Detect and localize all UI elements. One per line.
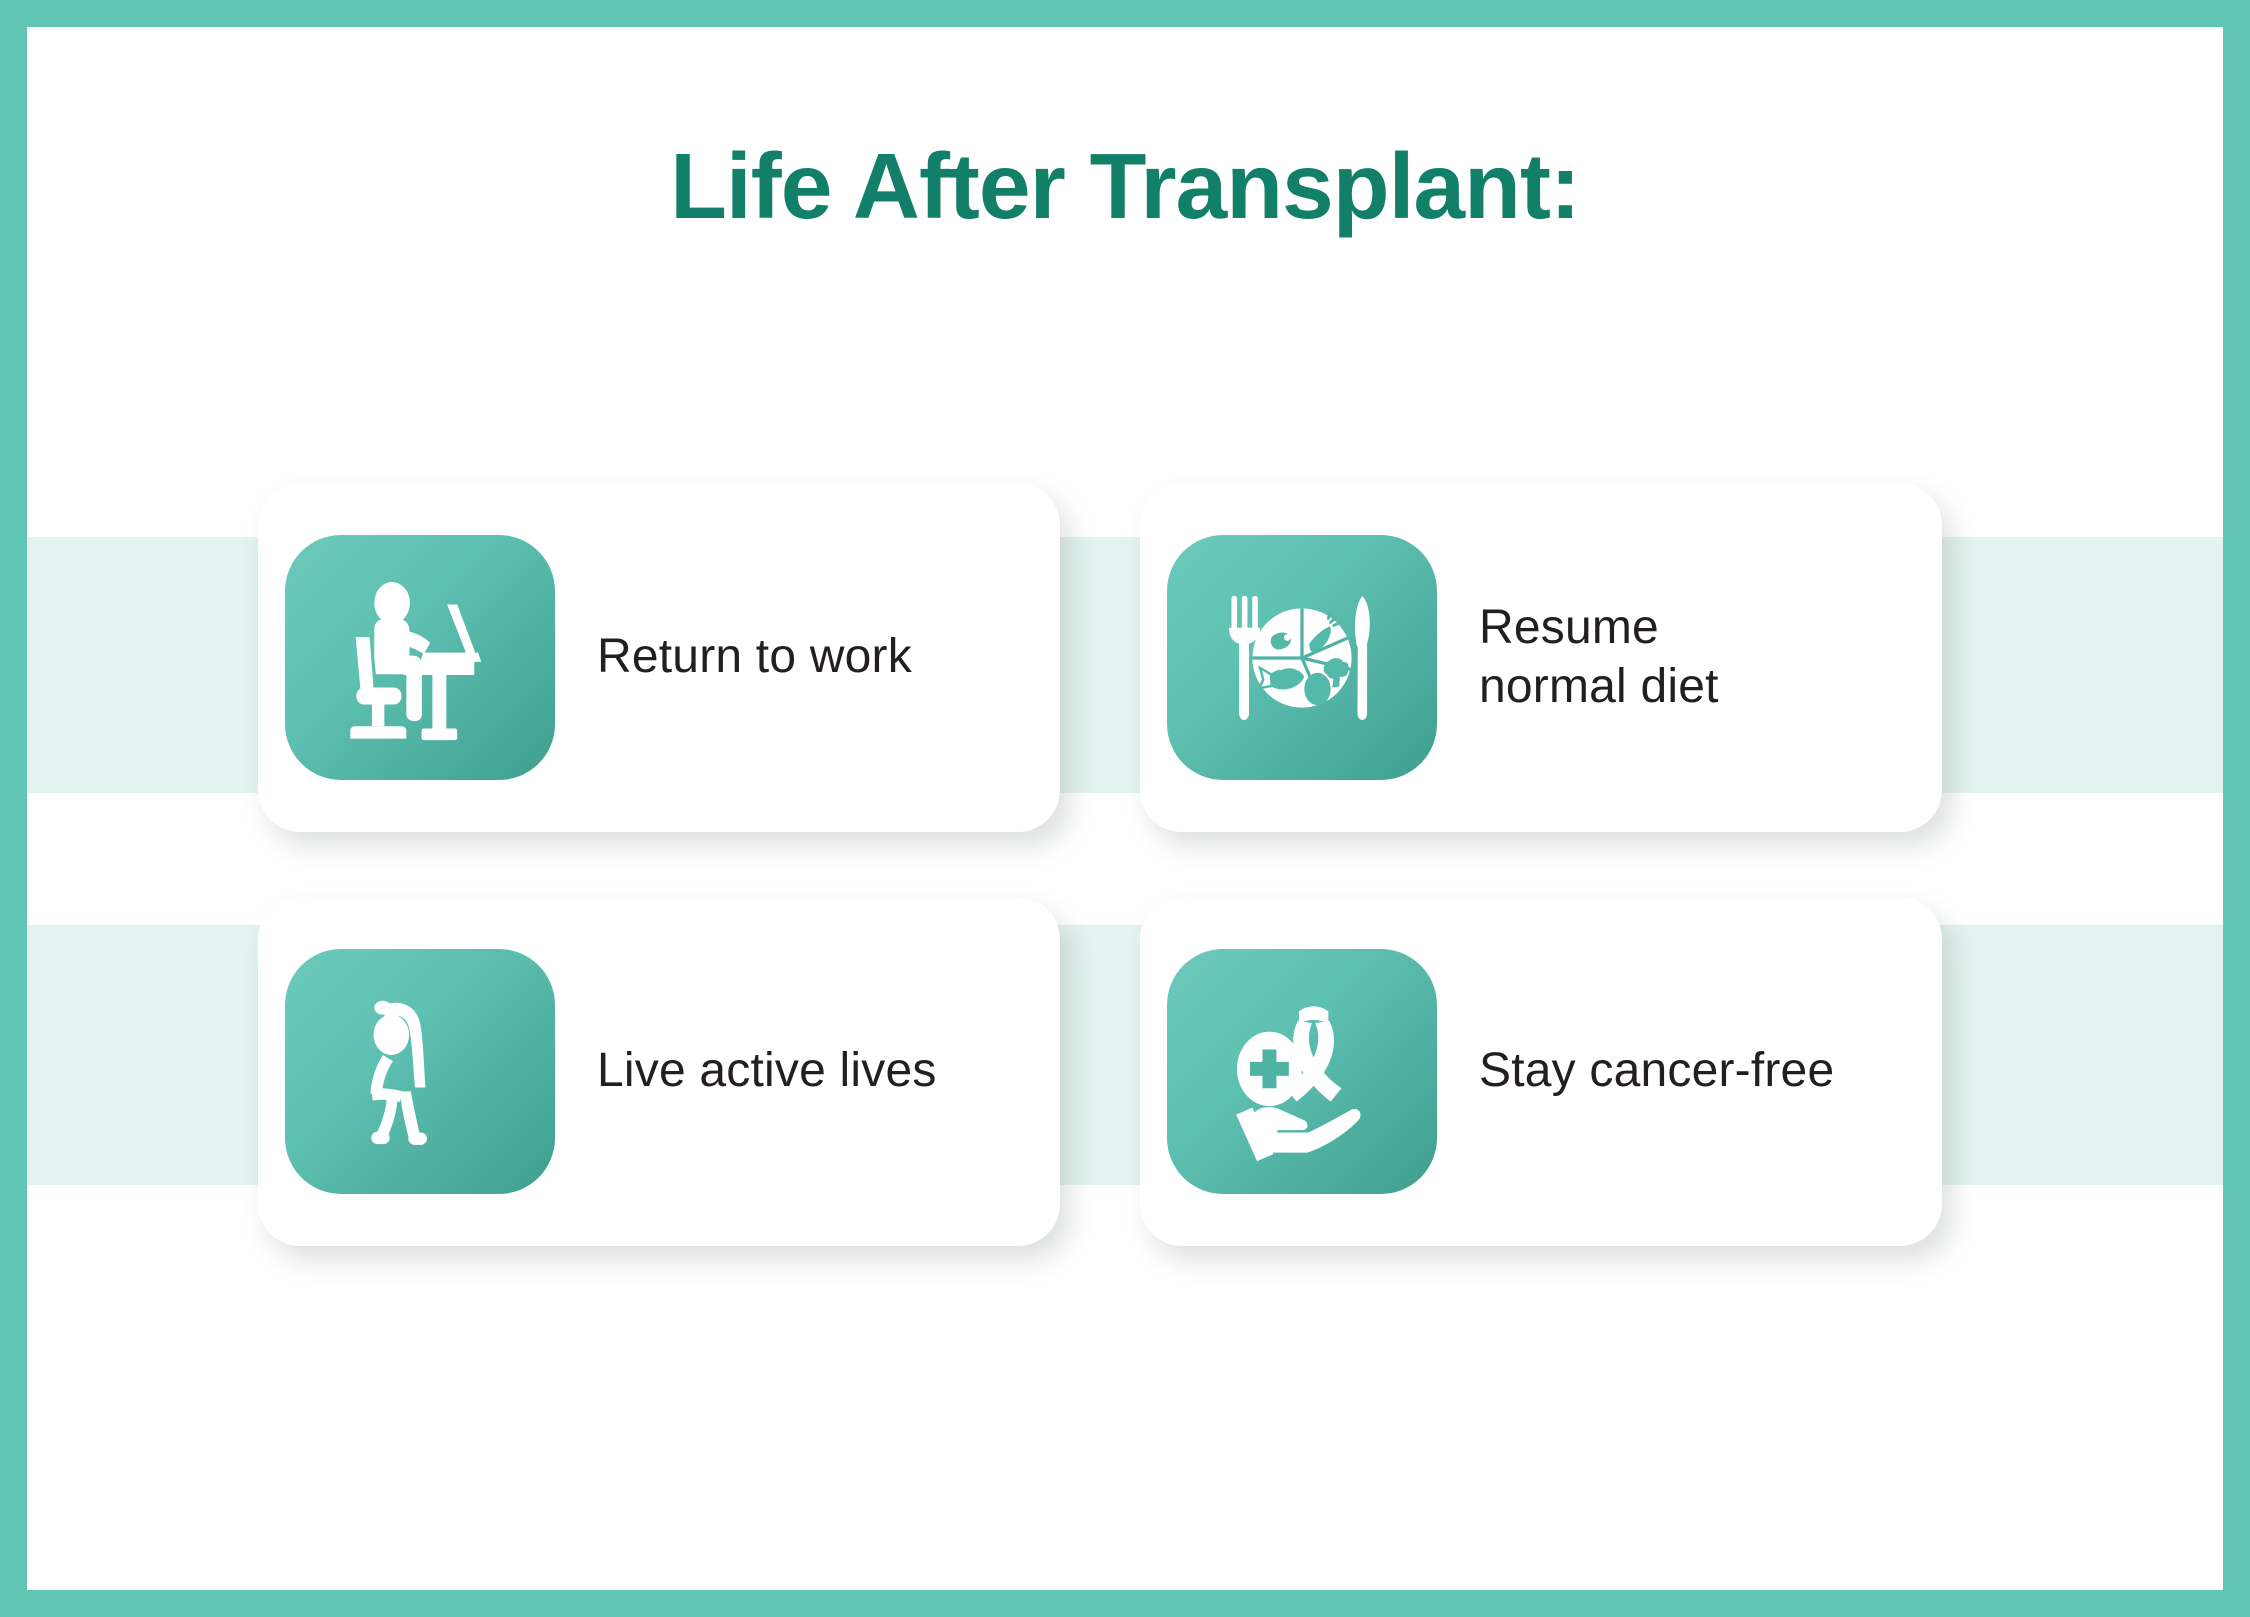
frame-border-bottom bbox=[0, 1590, 2250, 1617]
page-title: Life After Transplant: bbox=[0, 140, 2250, 233]
person-stretching-icon bbox=[285, 949, 555, 1194]
card-label: Live active lives bbox=[555, 1042, 1026, 1101]
card-label: Resume normal diet bbox=[1437, 599, 1908, 716]
person-at-desk-with-laptop-icon bbox=[285, 535, 555, 780]
plate-with-food-fork-knife-icon bbox=[1167, 535, 1437, 780]
frame-border-left bbox=[0, 0, 27, 1617]
frame-border-right bbox=[2223, 0, 2250, 1617]
frame-border-top bbox=[0, 0, 2250, 27]
card-label: Stay cancer-free bbox=[1437, 1042, 1908, 1101]
card-stay-cancer-free[interactable]: Stay cancer-free bbox=[1140, 897, 1942, 1246]
card-return-to-work[interactable]: Return to work bbox=[258, 483, 1060, 832]
card-label: Return to work bbox=[555, 628, 1026, 687]
hand-holding-awareness-ribbon-medical-cross-icon bbox=[1167, 949, 1437, 1194]
card-resume-normal-diet[interactable]: Resume normal diet bbox=[1140, 483, 1942, 832]
card-live-active-lives[interactable]: Live active lives bbox=[258, 897, 1060, 1246]
card-grid: Return to work bbox=[258, 483, 1958, 1223]
infographic-page: Life After Transplant: bbox=[0, 0, 2250, 1617]
